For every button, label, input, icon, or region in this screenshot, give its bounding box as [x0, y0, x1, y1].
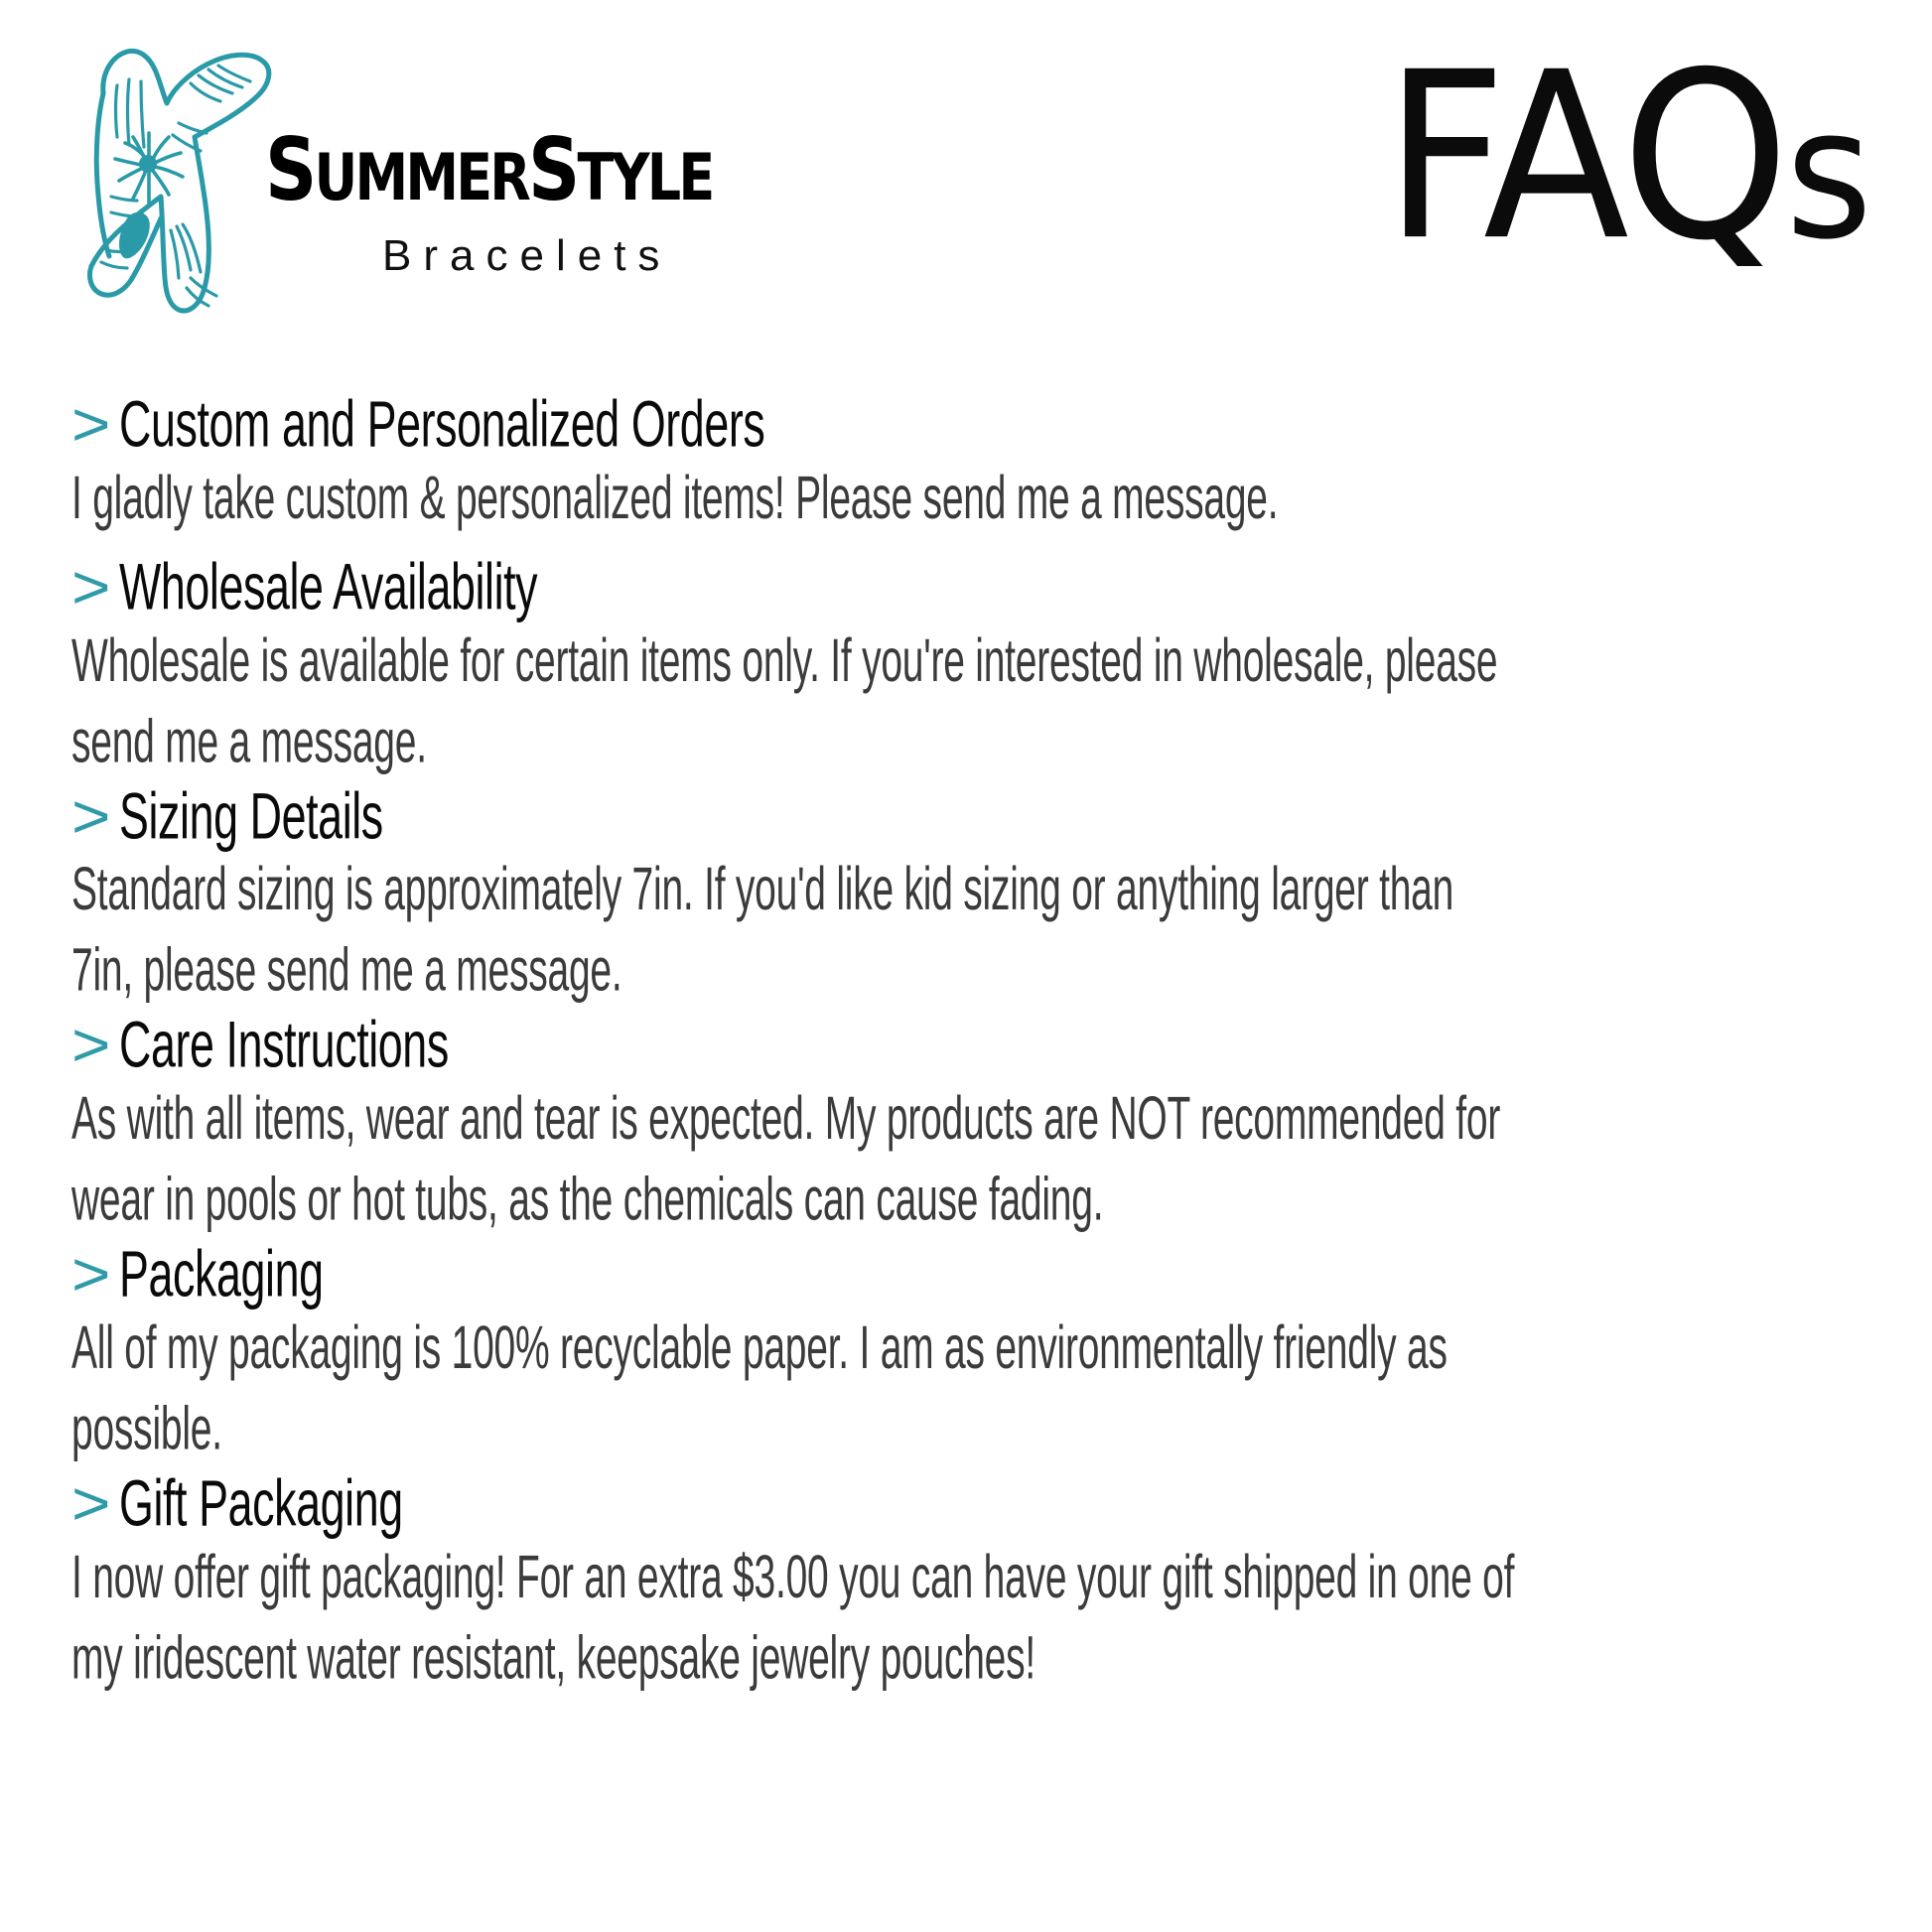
faq-list: > Custom and Personalized Orders I gladl…: [71, 395, 1868, 1670]
wordmark-tyle: TYLE: [578, 139, 713, 214]
faq-answer: As with all items, wear and tear is expe…: [71, 1078, 1868, 1240]
faq-item-care-instructions: > Care Instructions As with all items, w…: [71, 1016, 1868, 1211]
chevron-right-icon: >: [71, 1473, 110, 1535]
page-header: SUMMERSTYLE Bracelets FAQs: [0, 0, 1932, 397]
faq-question[interactable]: > Care Instructions: [71, 1016, 1868, 1074]
wordmark-primary: SUMMERSTYLE: [265, 127, 782, 213]
faq-question-label: Wholesale Availability: [119, 553, 537, 621]
brand-logo: SUMMERSTYLE Bracelets: [71, 28, 826, 326]
chevron-right-icon: >: [71, 1015, 110, 1076]
wordmark-ummer: UMMER: [314, 139, 528, 214]
chevron-right-icon: >: [71, 1244, 110, 1306]
faq-item-sizing-details: > Sizing Details Standard sizing is appr…: [71, 787, 1868, 983]
faq-answer-line: I gladly take custom & personalized item…: [71, 458, 1868, 539]
faq-answer-line: Wholesale is available for certain items…: [71, 621, 1868, 702]
faq-answer-line: possible.: [71, 1389, 1868, 1470]
page-title: FAQs: [1384, 48, 1868, 267]
chevron-right-icon: >: [71, 557, 110, 619]
faq-question-label: Custom and Personalized Orders: [119, 390, 764, 459]
faq-answer-line: Standard sizing is approximately 7in. If…: [71, 849, 1868, 930]
chevron-right-icon: >: [71, 394, 110, 456]
faq-answer: All of my packaging is 100% recyclable p…: [71, 1308, 1868, 1469]
faq-answer-line: I now offer gift packaging! For an extra…: [71, 1537, 1868, 1618]
faq-answer-line: my iridescent water resistant, keepsake …: [71, 1618, 1868, 1700]
faq-answer-line: All of my packaging is 100% recyclable p…: [71, 1308, 1868, 1389]
faq-question[interactable]: > Packaging: [71, 1245, 1868, 1304]
faq-question[interactable]: > Sizing Details: [71, 787, 1868, 846]
faq-question-label: Packaging: [119, 1240, 324, 1309]
faq-answer-line: 7in, please send me a message.: [71, 930, 1868, 1012]
faq-item-packaging: > Packaging All of my packaging is 100% …: [71, 1245, 1868, 1441]
faq-question[interactable]: > Wholesale Availability: [71, 558, 1868, 617]
faq-question-label: Care Instructions: [119, 1011, 449, 1079]
faq-question-label: Gift Packaging: [119, 1469, 403, 1538]
wordmark-s2: S: [528, 120, 577, 220]
faq-answer: Standard sizing is approximately 7in. If…: [71, 849, 1868, 1011]
wordmark-secondary: Bracelets: [382, 234, 821, 278]
page-title-suffix: s: [1785, 69, 1868, 280]
faq-answer-line: wear in pools or hot tubs, as the chemic…: [71, 1160, 1868, 1241]
faq-answer-line: As with all items, wear and tear is expe…: [71, 1078, 1868, 1160]
faq-question-label: Sizing Details: [119, 781, 383, 850]
faq-item-gift-packaging: > Gift Packaging I now offer gift packag…: [71, 1474, 1868, 1670]
faq-answer-line: send me a message.: [71, 701, 1868, 782]
faq-question[interactable]: > Custom and Personalized Orders: [71, 395, 1868, 454]
page-title-main: FAQ: [1384, 22, 1785, 291]
faq-question[interactable]: > Gift Packaging: [71, 1474, 1868, 1533]
starfish-icon: [71, 28, 280, 318]
faq-answer: I gladly take custom & personalized item…: [71, 458, 1868, 539]
wordmark-s1: S: [265, 120, 314, 220]
brand-wordmark: SUMMERSTYLE Bracelets: [265, 127, 821, 306]
faq-answer: Wholesale is available for certain items…: [71, 621, 1868, 782]
faq-answer: I now offer gift packaging! For an extra…: [71, 1537, 1868, 1699]
faq-item-wholesale-availability: > Wholesale Availability Wholesale is av…: [71, 558, 1868, 754]
faq-page: SUMMERSTYLE Bracelets FAQs > Custom and …: [0, 0, 1932, 1932]
faq-item-custom-and-personalized-orders: > Custom and Personalized Orders I gladl…: [71, 395, 1868, 524]
chevron-right-icon: >: [71, 786, 110, 848]
